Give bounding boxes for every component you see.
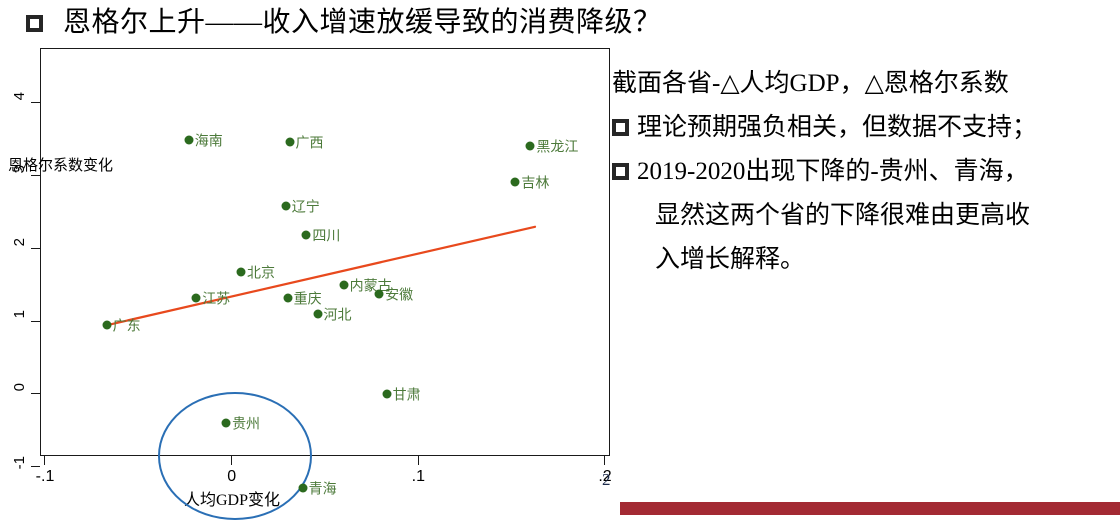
outlier-highlight-ellipse	[158, 392, 311, 520]
data-point-label: 安徽	[385, 288, 413, 303]
data-point-label: 河北	[324, 309, 352, 324]
data-point	[283, 294, 292, 303]
note-text: 2019-2020出现下降的-贵州、青海，	[637, 150, 1029, 194]
page-title-text: 恩格尔上升——收入增速放缓导致的消费降级？	[63, 8, 662, 38]
note-line: 显然这两个省的下降很难由更高收	[612, 194, 1120, 238]
square-bullet-icon	[26, 15, 43, 32]
square-bullet-icon	[612, 163, 629, 180]
note-text: 截面各省-△人均GDP，△恩格尔系数	[612, 62, 1009, 106]
data-point	[526, 141, 535, 150]
data-point-label: 贵州	[232, 418, 260, 433]
note-line: 2019-2020出现下降的-贵州、青海，	[612, 150, 1120, 194]
data-point	[281, 201, 290, 210]
scatter-chart: 恩格尔系数变化 人均GDP变化 -101234 -.10.1.2 海南广西黑龙江…	[0, 40, 618, 518]
notes-block: 截面各省-△人均GDP，△恩格尔系数理论预期强负相关，但数据不支持；2019-2…	[612, 62, 1120, 282]
page-number: 2	[602, 470, 611, 490]
data-point	[222, 419, 231, 428]
page-title: 恩格尔上升——收入增速放缓导致的消费降级？	[0, 2, 760, 44]
data-point-label: 广东	[113, 320, 141, 335]
note-text: 理论预期强负相关，但数据不支持；	[637, 106, 1037, 150]
data-point	[237, 267, 246, 276]
square-bullet-icon	[612, 119, 629, 136]
data-point-label: 吉林	[521, 176, 549, 191]
data-point-label: 青海	[309, 483, 337, 498]
data-point-label: 四川	[312, 230, 340, 245]
data-point	[382, 390, 391, 399]
data-point-label: 海南	[195, 135, 223, 150]
note-line: 理论预期强负相关，但数据不支持；	[612, 106, 1120, 150]
note-line: 截面各省-△人均GDP，△恩格尔系数	[612, 62, 1120, 106]
data-point	[511, 177, 520, 186]
data-point-label: 北京	[247, 266, 275, 281]
data-point-label: 辽宁	[292, 200, 320, 215]
data-point-label: 广西	[296, 137, 324, 152]
data-point	[375, 289, 384, 298]
note-text: 显然这两个省的下降很难由更高收	[655, 194, 1030, 238]
data-point	[302, 231, 311, 240]
data-point	[313, 310, 322, 319]
data-point	[102, 321, 111, 330]
note-line: 入增长解释。	[612, 238, 1120, 282]
note-text: 入增长解释。	[655, 238, 805, 282]
data-point-label: 黑龙江	[536, 140, 578, 155]
footer-accent-bar	[620, 502, 1120, 515]
data-point	[285, 138, 294, 147]
data-point-label: 江苏	[202, 293, 230, 308]
data-point	[298, 484, 307, 493]
data-point-label: 重庆	[294, 293, 322, 308]
data-point	[184, 136, 193, 145]
data-point	[339, 281, 348, 290]
data-point	[192, 294, 201, 303]
data-point-label: 甘肃	[393, 389, 421, 404]
